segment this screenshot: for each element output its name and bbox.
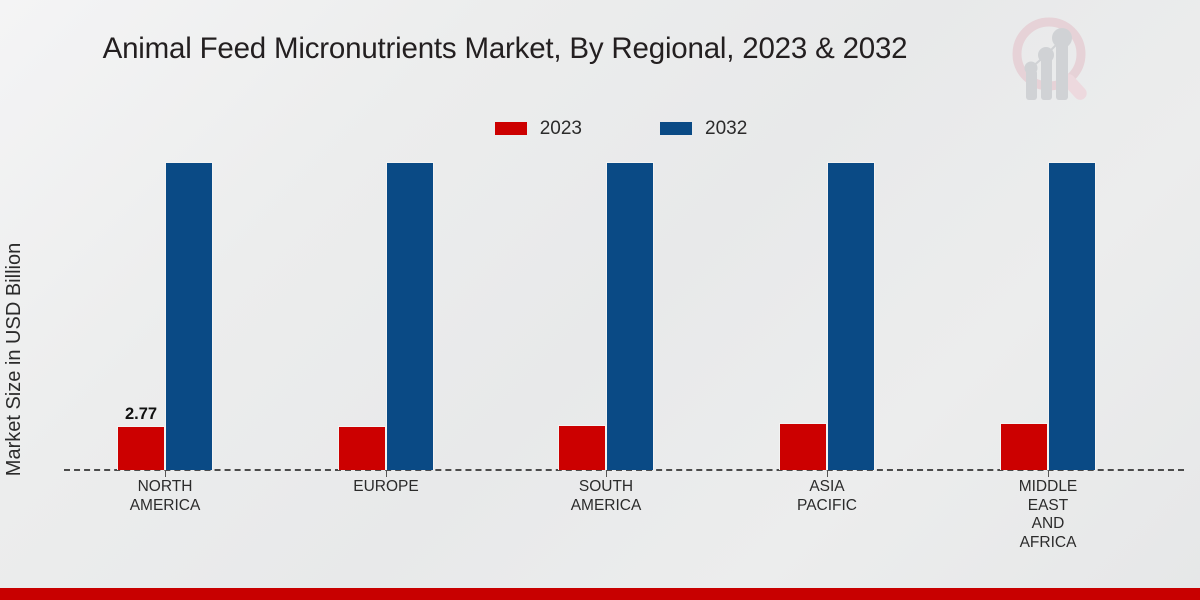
y-axis-title-text: Market Size in USD Billion — [4, 242, 27, 475]
x-axis-category-line: NORTH — [130, 478, 201, 497]
legend-item-2023[interactable]: 2023 — [495, 119, 582, 138]
watermark-dot-2 — [1038, 47, 1054, 63]
x-axis-category-label: EUROPE — [353, 478, 418, 497]
x-axis-tick — [606, 470, 607, 477]
x-axis-tick — [1048, 470, 1049, 477]
bar-2032[interactable] — [386, 162, 434, 470]
legend-label-2023: 2023 — [540, 119, 582, 138]
x-axis-category-label: SOUTHAMERICA — [571, 478, 642, 515]
x-axis-category-line: AFRICA — [1019, 534, 1078, 553]
x-axis-category-line: PACIFIC — [797, 497, 857, 516]
bar-2023[interactable]: 2.77 — [117, 426, 165, 470]
legend-label-2032: 2032 — [705, 119, 747, 138]
bar-group: 2.77NORTHAMERICA — [117, 160, 213, 470]
x-axis-category-line: AMERICA — [571, 497, 642, 516]
x-axis-category-line: SOUTH — [571, 478, 642, 497]
bar-group: ASIAPACIFIC — [779, 160, 875, 470]
x-axis-category-label: ASIAPACIFIC — [797, 478, 857, 515]
x-axis-category-line: EAST — [1019, 497, 1078, 516]
market-research-future-logo-watermark — [1000, 8, 1104, 112]
watermark-dot-3 — [1052, 28, 1072, 48]
bar-2023[interactable] — [779, 423, 827, 470]
magnifier-handle-icon — [1060, 72, 1090, 103]
page-title: Animal Feed Micronutrients Market, By Re… — [0, 32, 1010, 66]
bar-2032[interactable] — [1048, 162, 1096, 470]
bar-2032[interactable] — [827, 162, 875, 470]
bar-pair — [558, 160, 654, 470]
bar-group: MIDDLEEASTANDAFRICA — [1000, 160, 1096, 470]
watermark-bar-3 — [1056, 43, 1068, 100]
bar-pair — [1000, 160, 1096, 470]
bar-2032[interactable] — [606, 162, 654, 470]
watermark-svg — [1000, 8, 1104, 112]
x-axis-tick — [165, 470, 166, 477]
x-axis-tick — [386, 470, 387, 477]
watermark-bar-2 — [1041, 57, 1052, 100]
legend-swatch-2023 — [495, 122, 527, 135]
bar-pair — [779, 160, 875, 470]
x-axis-category-line: AMERICA — [130, 497, 201, 516]
bar-group: SOUTHAMERICA — [558, 160, 654, 470]
legend-swatch-2032 — [660, 122, 692, 135]
footer-accent-bar — [0, 588, 1200, 600]
watermark-trend-line — [1031, 39, 1062, 68]
bar-2023[interactable] — [558, 425, 606, 470]
x-axis-category-line: AND — [1019, 515, 1078, 534]
chart-legend: 2023 2032 — [0, 119, 1200, 138]
x-axis-category-line: MIDDLE — [1019, 478, 1078, 497]
watermark-bar-1 — [1026, 70, 1037, 100]
plot-area: 2.77NORTHAMERICAEUROPESOUTHAMERICAASIAPA… — [36, 160, 1188, 470]
x-axis-category-line: ASIA — [797, 478, 857, 497]
x-axis-category-line: EUROPE — [353, 478, 418, 497]
bar-2032[interactable] — [165, 162, 213, 470]
bar-2023[interactable] — [338, 426, 386, 471]
x-axis-category-label: MIDDLEEASTANDAFRICA — [1019, 478, 1078, 552]
bar-pair: 2.77 — [117, 160, 213, 470]
bar-group: EUROPE — [338, 160, 434, 470]
legend-item-2032[interactable]: 2032 — [660, 119, 747, 138]
bar-pair — [338, 160, 434, 470]
x-axis-category-label: NORTHAMERICA — [130, 478, 201, 515]
bar-value-label: 2.77 — [125, 405, 157, 424]
bar-2023[interactable] — [1000, 423, 1048, 470]
magnifier-ring-icon — [1017, 22, 1081, 86]
watermark-dot-1 — [1025, 62, 1038, 75]
y-axis-title: Market Size in USD Billion — [0, 186, 30, 532]
x-axis-tick — [827, 470, 828, 477]
chart-page: Animal Feed Micronutrients Market, By Re… — [0, 0, 1200, 600]
